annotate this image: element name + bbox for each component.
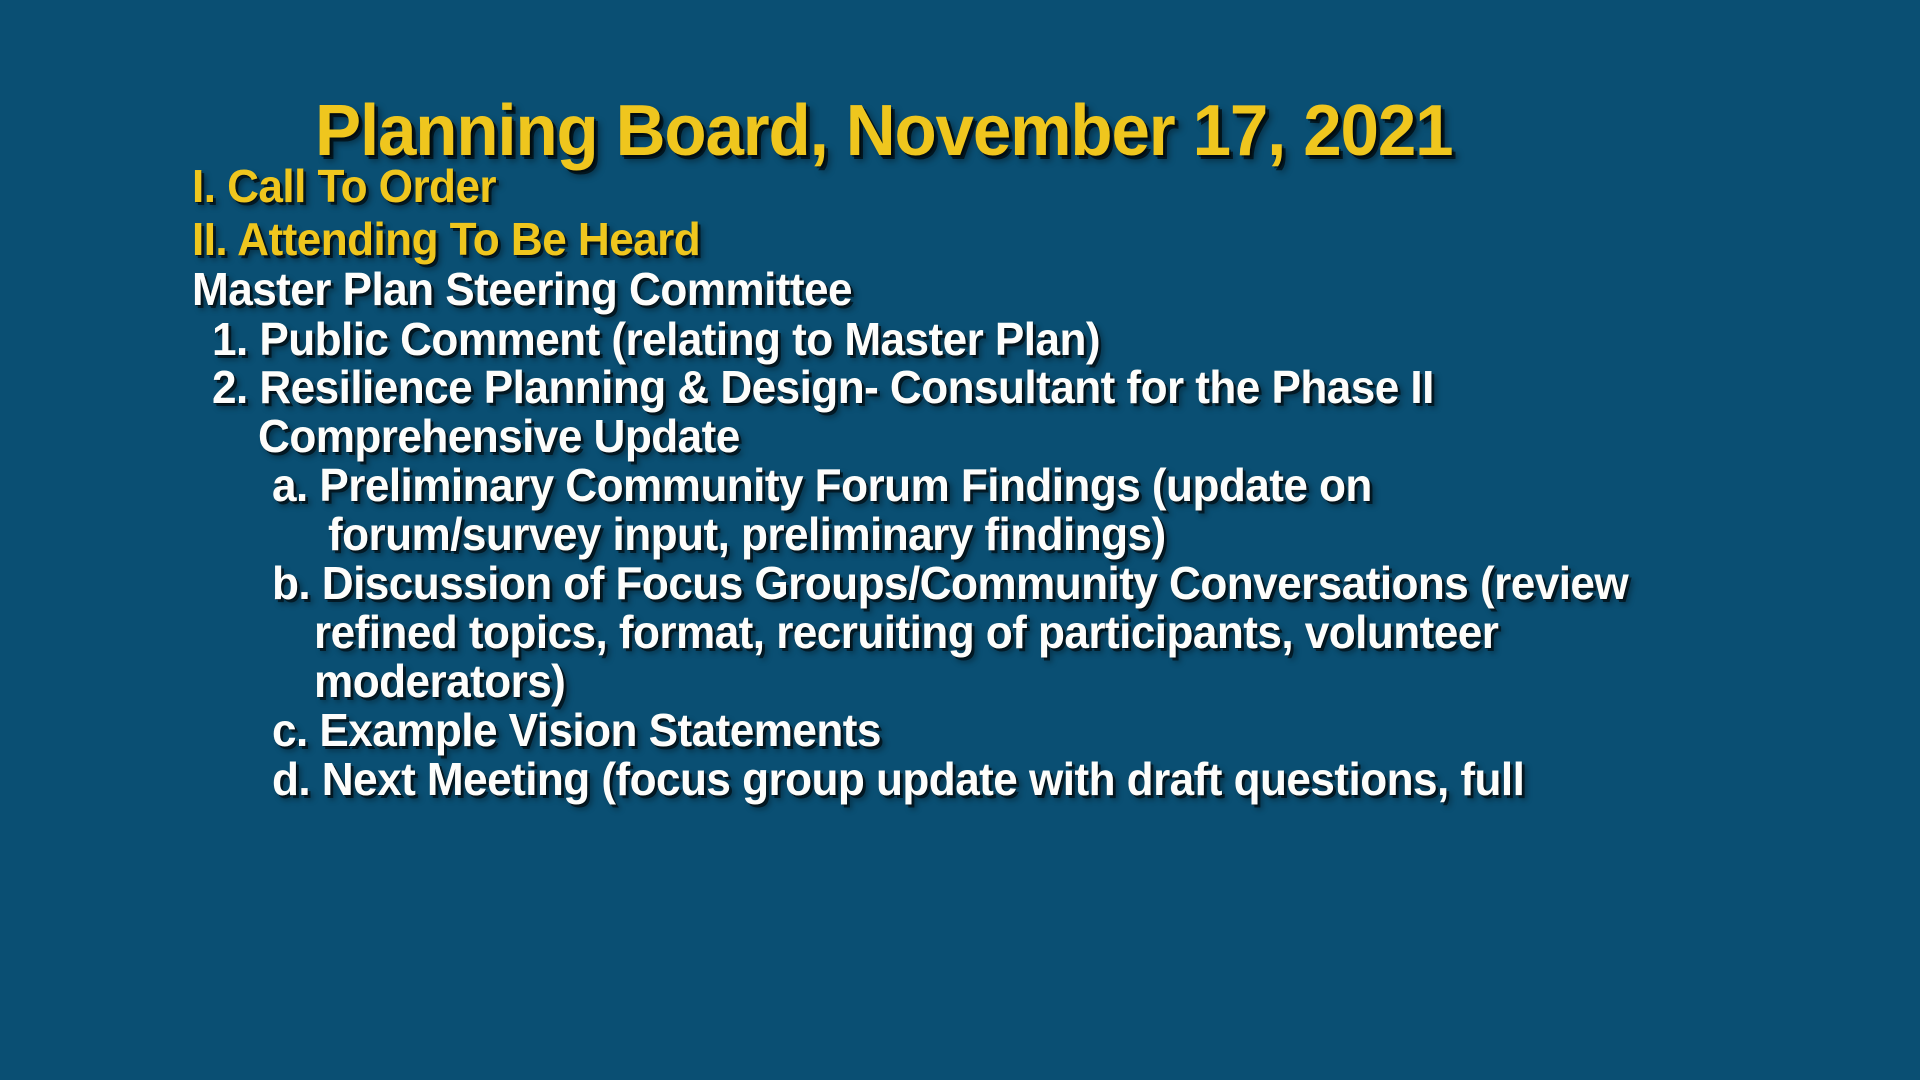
agenda-item-i: I. Call To Order [192,163,496,209]
page-title: Planning Board, November 17, 2021 [315,95,1452,167]
agenda-slide: Planning Board, November 17, 2021 I. Cal… [0,0,1920,1080]
agenda-item-2b-continuation-2: moderators) [314,658,565,704]
agenda-item-2b-continuation-1: refined topics, format, recruiting of pa… [314,609,1498,655]
agenda-item-2d-next-meeting: d. Next Meeting (focus group update with… [272,756,1524,802]
agenda-item-2a-preliminary-findings: a. Preliminary Community Forum Findings … [272,462,1372,508]
agenda-heading-master-plan-steering-committee: Master Plan Steering Committee [192,266,852,312]
agenda-item-2-continuation: Comprehensive Update [258,413,740,459]
agenda-item-2c-example-vision-statements: c. Example Vision Statements [272,707,881,753]
agenda-item-2-resilience-planning: 2. Resilience Planning & Design- Consult… [212,364,1434,410]
agenda-item-2a-continuation: forum/survey input, preliminary findings… [328,511,1166,557]
agenda-item-1-public-comment: 1. Public Comment (relating to Master Pl… [212,316,1100,362]
agenda-item-ii: II. Attending To Be Heard [192,216,700,262]
agenda-item-2b-focus-groups: b. Discussion of Focus Groups/Community … [272,560,1628,606]
